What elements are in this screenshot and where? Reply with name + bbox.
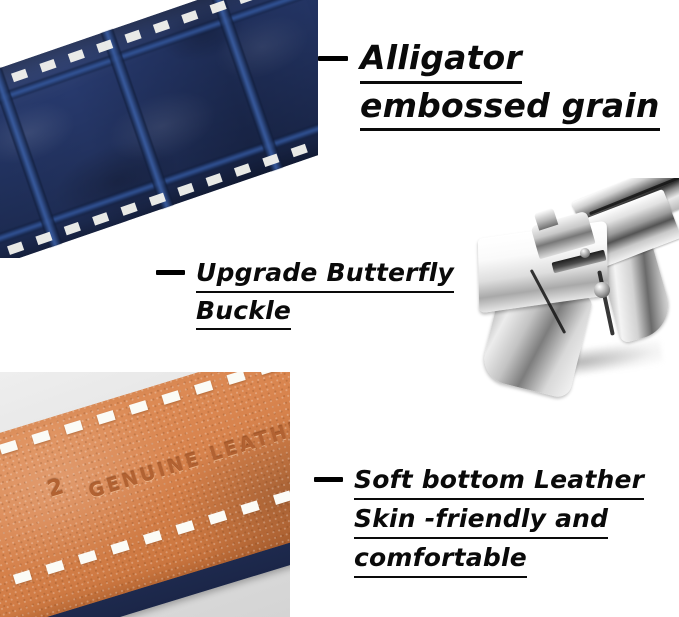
callout-line: Soft bottom Leather [354, 461, 644, 500]
leather-underside-photo: 2 GENUINE LEATHER [0, 372, 290, 617]
callout-leather-lines: Soft bottom Leather Skin -friendly and c… [354, 461, 644, 578]
callout-line: Skin -friendly and [354, 500, 608, 539]
dash-marker-icon [314, 477, 343, 482]
callout-leather: Soft bottom Leather Skin -friendly and c… [314, 461, 644, 578]
callout-line: embossed grain [360, 84, 660, 132]
callout-line: Upgrade Butterfly [196, 255, 454, 293]
callout-line: Alligator [360, 36, 522, 84]
buckle-pin [580, 248, 590, 258]
buckle-hinge [594, 282, 610, 298]
callout-alligator: Alligator embossed grain [318, 36, 660, 131]
blue-alligator-strap [0, 0, 318, 258]
butterfly-buckle-photo [468, 178, 679, 403]
dash-marker-icon [156, 270, 185, 275]
product-feature-image: 2 GENUINE LEATHER Alligator embossed gra… [0, 0, 679, 617]
dash-marker-icon [318, 56, 348, 61]
alligator-strap-photo [0, 0, 318, 258]
callout-alligator-lines: Alligator embossed grain [360, 36, 660, 131]
callout-line: comfortable [354, 539, 527, 578]
callout-buckle-lines: Upgrade Butterfly Buckle [196, 255, 454, 330]
callout-buckle: Upgrade Butterfly Buckle [156, 255, 454, 330]
callout-line: Buckle [196, 293, 291, 331]
